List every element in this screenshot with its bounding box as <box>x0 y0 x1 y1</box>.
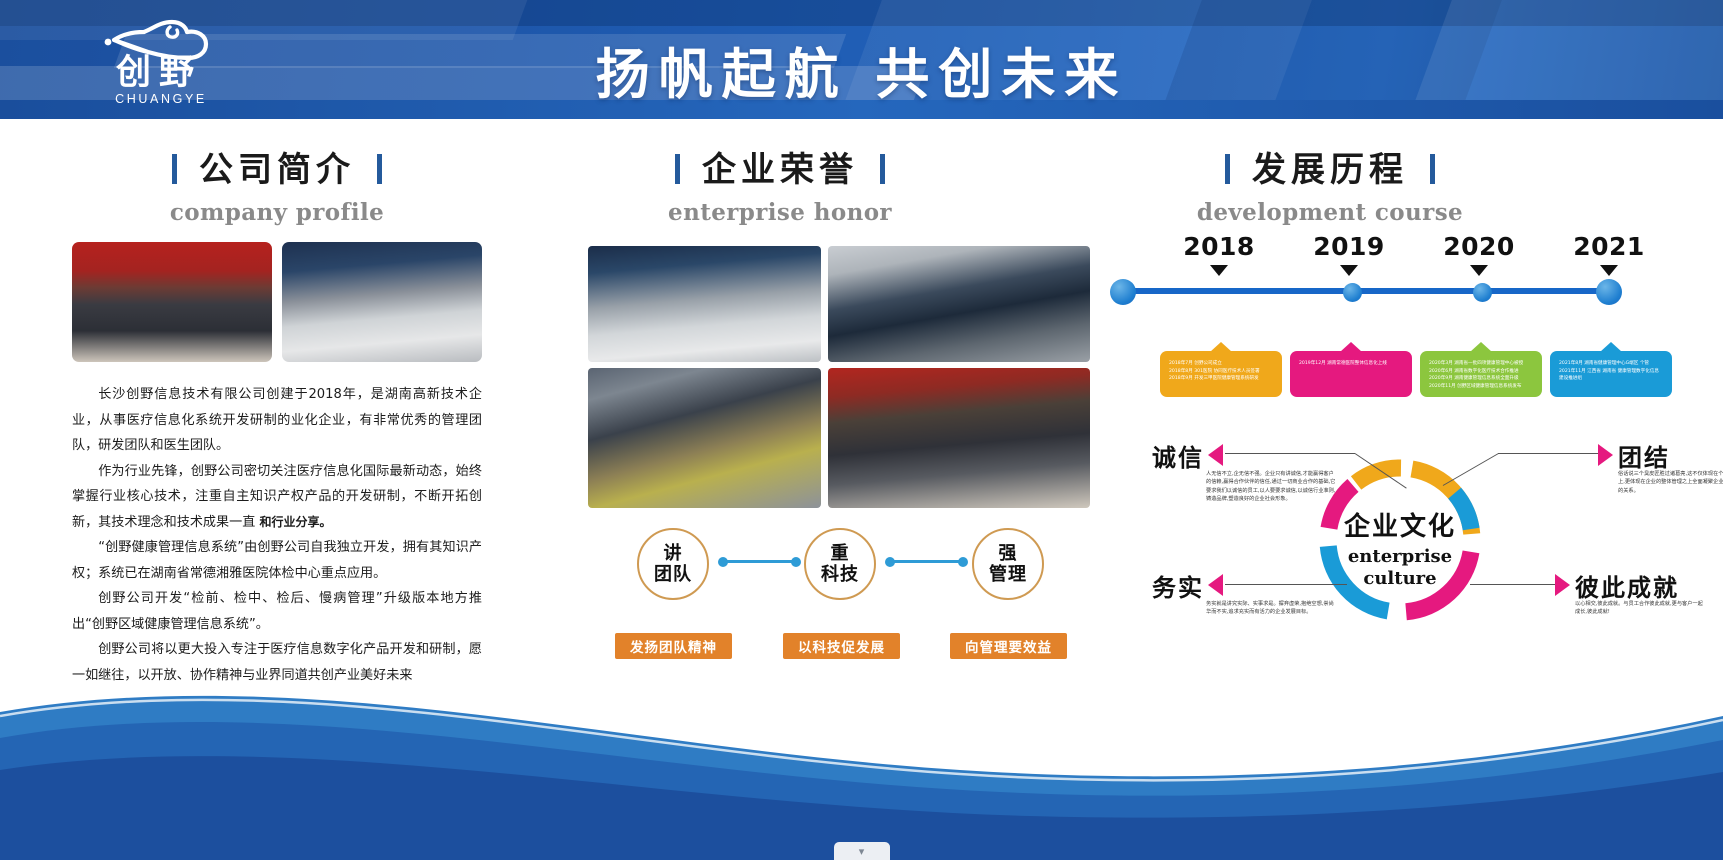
title-bar-left <box>172 154 177 184</box>
course-title-en: development course <box>1090 199 1570 226</box>
wave-graphics <box>0 620 1723 860</box>
honor-photo-4 <box>828 368 1090 508</box>
culture-value-desc-integrity: 人无信不立,企无信不强。企业只有讲诚信,才能赢得客户的信赖,赢得合作伙伴的信任,… <box>1206 470 1338 504</box>
section-title-honor: 企业荣誉 enterprise honor <box>560 142 1000 226</box>
title-bar-right <box>377 154 382 184</box>
timeline-year-2018: 2018 <box>1164 232 1274 261</box>
timeline-dot-2021 <box>1596 279 1622 305</box>
milestone-notch <box>1470 342 1492 352</box>
connector-dot-left <box>885 557 895 567</box>
honor-photo-2 <box>828 246 1090 362</box>
milestone-list-2019: 2019年12月 湖南常德医院整体信息化上线 <box>1290 351 1412 376</box>
milestone-notch <box>1340 342 1362 352</box>
milestone-item: 建设推进组 <box>1559 375 1664 383</box>
milestone-notch <box>1210 342 1232 352</box>
profile-title-en: company profile <box>72 199 482 226</box>
culture-center-label: 企业文化 enterprise culture <box>1330 506 1470 589</box>
honor-photo-1 <box>588 246 821 362</box>
culture-value-label-pragmatism: 务实 <box>1152 568 1204 603</box>
poster-canvas: 创野 CHUANGYE 扬帆起航 共创未来 公司简介 company profi… <box>0 0 1723 860</box>
value-circle-team-text: 讲 团队 <box>654 543 692 585</box>
culture-value-label-unity: 团结 <box>1618 438 1670 473</box>
scroll-handle[interactable]: ▾ <box>834 842 890 860</box>
milestone-box-2018: 2018年7月 创野公司成立 2018年8月 301医院 协同医疗技术人员签署 … <box>1160 351 1282 397</box>
poster-title: 扬帆起航 共创未来 <box>0 30 1723 109</box>
culture-arrow-pragmatism <box>1208 574 1223 596</box>
milestone-box-2020: 2020年3月 湖南省一批四项健康管理中心被授 2020年6月 湖南省数字化医疗… <box>1420 351 1542 397</box>
header-banner: 创野 CHUANGYE 扬帆起航 共创未来 <box>0 0 1723 119</box>
timeline-year-2020: 2020 <box>1424 232 1534 261</box>
title-bar-right <box>880 154 885 184</box>
timeline-year-2019: 2019 <box>1294 232 1404 261</box>
culture-value-label-mutual: 彼此成就 <box>1575 568 1679 603</box>
milestone-item: 2021年8月 湖南省健康管理中心G端区 个管 <box>1559 360 1664 368</box>
profile-photo-team <box>72 242 272 362</box>
honor-title-cn-wrap: 企业荣誉 <box>675 142 885 191</box>
timeline-caret-2020 <box>1470 265 1488 276</box>
honor-title-en: enterprise honor <box>560 199 1000 226</box>
title-bar-left <box>1225 154 1230 184</box>
culture-leader-integrity <box>1225 453 1355 454</box>
profile-paragraph-3: “创野健康管理信息系统”由创野公司自我独立开发，拥有其知识产权；系统已在湖南省常… <box>72 535 482 586</box>
milestone-box-2021: 2021年8月 湖南省健康管理中心G端区 个管 2021年11月 江西省 湖南省… <box>1550 351 1672 397</box>
culture-leader-pragmatism <box>1225 584 1347 585</box>
culture-leader-mutual <box>1470 584 1555 585</box>
culture-arrow-mutual <box>1555 574 1570 596</box>
course-title-cn-wrap: 发展历程 <box>1225 142 1435 191</box>
title-bar-right <box>1430 154 1435 184</box>
value-circle-tech-text: 重 科技 <box>821 543 859 585</box>
culture-value-desc-unity: 俗话说三个臭皮匠胜过诸葛亮,这不仅体现在个人的智慧上,更体现在企业的整体管理之上… <box>1618 470 1723 495</box>
milestone-item: 2020年11月 创野区域健康管理信息系统发布 <box>1429 383 1534 391</box>
milestone-item: 2018年9月 开发三甲医院健康管理系统研发 <box>1169 375 1274 383</box>
milestone-item: 2019年12月 湖南常德医院整体信息化上线 <box>1299 360 1404 368</box>
milestone-list-2018: 2018年7月 创野公司成立 2018年8月 301医院 协同医疗技术人员签署 … <box>1160 351 1282 391</box>
value-mgmt-line2: 管理 <box>989 564 1027 585</box>
timeline-axis <box>1122 288 1610 294</box>
timeline-caret-2021 <box>1600 265 1618 276</box>
course-title-cn: 发展历程 <box>1252 150 1408 190</box>
value-team-line2: 团队 <box>654 564 692 585</box>
timeline-dot-2019 <box>1343 283 1362 302</box>
culture-center-en1: enterprise <box>1330 546 1470 567</box>
culture-value-desc-pragmatism: 务实就是讲究实际、实事求是。摒弃虚荣,抱绝空想,崇尚华而不实,追求充实而有活力的… <box>1206 600 1338 617</box>
milestone-item: 2020年9月 湖南健康管理信息系统全面升级 <box>1429 375 1534 383</box>
value-mgmt-line1: 强 <box>999 543 1018 564</box>
title-bar-left <box>675 154 680 184</box>
milestone-box-2019: 2019年12月 湖南常德医院整体信息化上线 <box>1290 351 1412 397</box>
timeline-dot-2018 <box>1110 279 1136 305</box>
milestone-item: 2020年3月 湖南省一批四项健康管理中心被授 <box>1429 360 1534 368</box>
profile-title-cn-wrap: 公司简介 <box>172 142 382 191</box>
value-team-line1: 讲 <box>664 543 683 564</box>
profile-title-cn: 公司简介 <box>199 150 355 190</box>
culture-value-desc-mutual: 以心相交,彼此成就。与员工合作彼此成就,更与客户一起成长,彼此成就! <box>1575 600 1707 617</box>
milestone-item: 2020年6月 湖南省数字化医疗技术合作推进 <box>1429 368 1534 376</box>
profile-paragraph-1: 长沙创野信息技术有限公司创建于2018年，是湖南高新技术企业，从事医疗信息化系统… <box>72 382 482 459</box>
timeline-caret-2018 <box>1210 265 1228 276</box>
section-title-course: 发展历程 development course <box>1090 142 1570 226</box>
profile-p2-emphasis: 和行业分享。 <box>259 515 331 529</box>
value-circle-management-text: 强 管理 <box>989 543 1027 585</box>
culture-leader-unity <box>1498 453 1598 454</box>
milestone-item: 2018年7月 创野公司成立 <box>1169 360 1274 368</box>
honor-photo-3 <box>588 368 821 508</box>
milestone-list-2021: 2021年8月 湖南省健康管理中心G端区 个管 2021年11月 江西省 湖南省… <box>1550 351 1672 391</box>
section-title-profile: 公司简介 company profile <box>72 142 482 226</box>
honor-title-cn: 企业荣誉 <box>702 150 858 190</box>
connector-team-tech <box>723 560 796 563</box>
footer-wave-decoration: ▾ <box>0 620 1723 860</box>
culture-arrow-unity <box>1598 444 1613 466</box>
culture-arrow-integrity <box>1208 444 1223 466</box>
connector-dot-left <box>718 557 728 567</box>
timeline-dot-2020 <box>1473 283 1492 302</box>
value-tech-line2: 科技 <box>821 564 859 585</box>
profile-paragraph-2: 作为行业先锋，创野公司密切关注医疗信息化国际最新动态，始终掌握行业核心技术，注重… <box>72 459 482 536</box>
profile-photo-office <box>282 242 482 362</box>
connector-dot-right <box>791 557 801 567</box>
value-circle-tech: 重 科技 <box>804 528 876 600</box>
connector-dot-right <box>958 557 968 567</box>
connector-tech-management <box>890 560 963 563</box>
culture-center-cn: 企业文化 <box>1330 506 1470 543</box>
culture-value-label-integrity: 诚信 <box>1152 438 1204 473</box>
culture-center-en2: culture <box>1330 568 1470 589</box>
value-circle-team: 讲 团队 <box>637 528 709 600</box>
milestone-item: 2018年8月 301医院 协同医疗技术人员签署 <box>1169 368 1274 376</box>
milestone-list-2020: 2020年3月 湖南省一批四项健康管理中心被授 2020年6月 湖南省数字化医疗… <box>1420 351 1542 398</box>
timeline-year-2021: 2021 <box>1554 232 1664 261</box>
timeline-caret-2019 <box>1340 265 1358 276</box>
value-tech-line1: 重 <box>831 543 850 564</box>
milestone-notch <box>1600 342 1622 352</box>
milestone-item: 2021年11月 江西省 湖南省 健康管理数字化信息 <box>1559 368 1664 376</box>
value-circle-management: 强 管理 <box>972 528 1044 600</box>
